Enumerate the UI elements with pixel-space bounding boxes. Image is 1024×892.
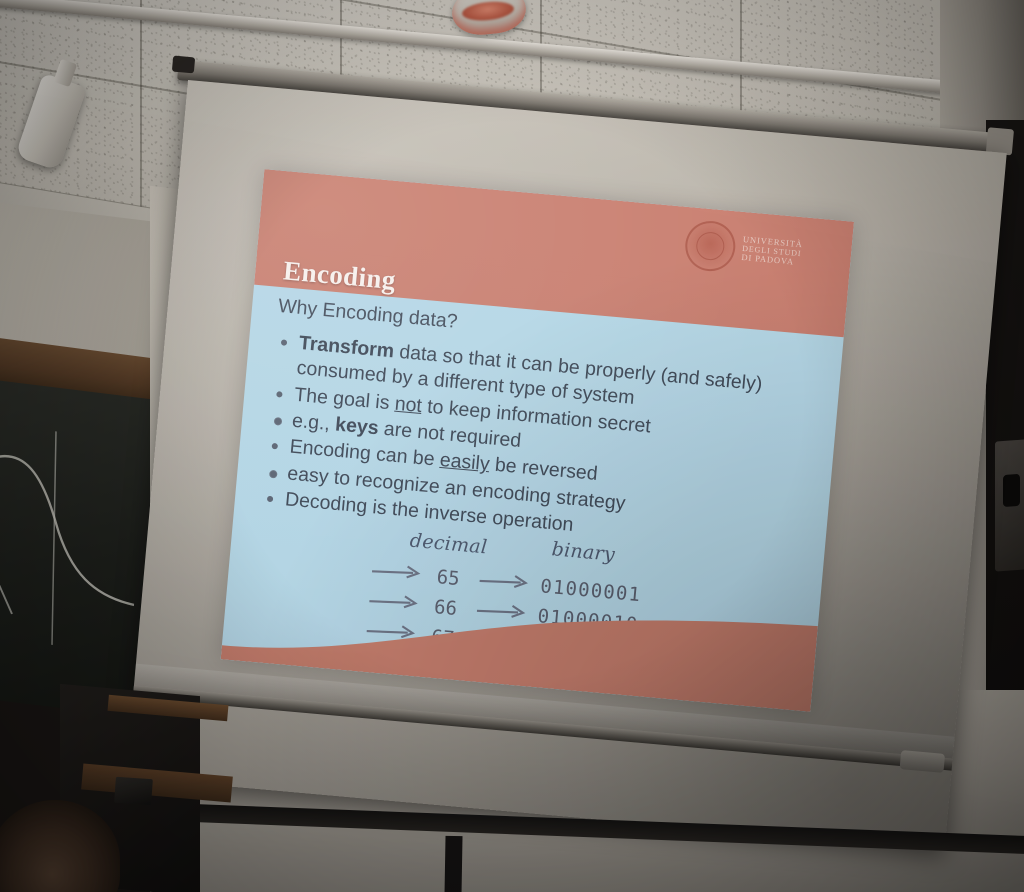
roller-bracket-left xyxy=(172,56,195,74)
bullet-text-run: keys xyxy=(334,414,379,440)
slide-body: Why Encoding data? Transform data so tha… xyxy=(221,285,844,712)
small-device-box xyxy=(114,777,153,806)
slide-lead-text: Why Encoding data? xyxy=(277,295,458,334)
bullet-text-run: not xyxy=(394,392,423,416)
projected-slide: UNIVERSITÀ DEGLI STUDI DI PADOVA Encodin… xyxy=(221,169,854,712)
desk-leg xyxy=(444,836,462,892)
column-header-decimal: decimal xyxy=(409,530,488,559)
column-header-binary: binary xyxy=(551,538,616,566)
lecture-hall-photo: UNIVERSITÀ DEGLI STUDI DI PADOVA Encodin… xyxy=(0,0,1024,892)
screen-pull-handle[interactable] xyxy=(900,750,946,773)
university-logo-text: UNIVERSITÀ DEGLI STUDI DI PADOVA xyxy=(741,235,803,268)
wall-mounted-device xyxy=(995,438,1024,571)
projection-screen: UNIVERSITÀ DEGLI STUDI DI PADOVA Encodin… xyxy=(126,80,1007,850)
bullet-text-run: easily xyxy=(439,449,491,475)
university-seal-icon xyxy=(683,219,737,273)
bullet-text-run: e.g., xyxy=(291,410,336,436)
